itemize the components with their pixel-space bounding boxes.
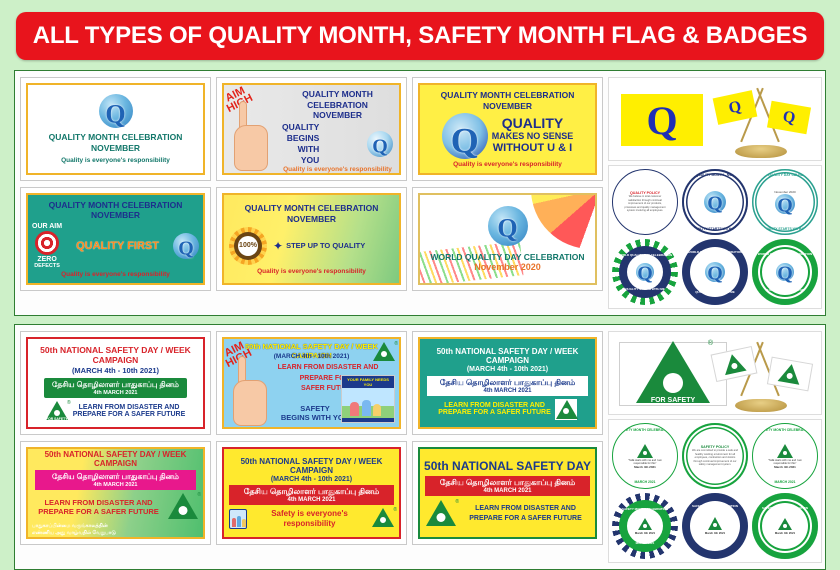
quality-card-5-title: QUALITY MONTH CELEBRATION (245, 203, 379, 214)
quality-badge-month[interactable]: QUALITY MONTH - NOV QUALITY STARTS WITH … (682, 169, 748, 235)
safety-triangle-icon (637, 444, 653, 459)
quality-card-3-title: QUALITY MONTH CELEBRATION (441, 90, 575, 101)
safety-card-1-line1: LEARN FROM DISASTER AND (73, 404, 186, 411)
quality-line-2: MAKES NO SENSE (492, 131, 574, 142)
safety-badge-green[interactable]: SAFETY MONTH CELEBRATION March 4th 2021 … (752, 493, 818, 559)
family-caption: YOUR FAMILY NEEDS YOU (342, 376, 394, 388)
safety-card-1-title: 50th NATIONAL SAFETY DAY / WEEK CAMPAIGN (28, 345, 203, 365)
safety-card-4-line1: LEARN FROM DISASTER AND (33, 498, 164, 507)
badge-bottom-text: MARCH 2021 (682, 544, 748, 548)
badge-top-text: WORLD QUALITY DAY CELEBRATION (612, 253, 678, 257)
safety-triangle-icon (778, 518, 792, 531)
safety-card-3-dates: (MARCH 4th - 10th 2021) (467, 366, 548, 373)
family-photo: YOUR FAMILY NEEDS YOU (341, 375, 395, 423)
safety-card-1-march: 4th MARCH 2021 (52, 390, 179, 396)
safety-card-5-tamil: தேசிய தொழிலாளர் பாதுகாப்பு தினம் (237, 487, 386, 497)
safety-badge-3[interactable]: SAFETY MONTH CELEBRATION "SHE starts wit… (752, 423, 818, 489)
quality-card-3-tagline: Quality is everyone's responsibility (453, 161, 562, 168)
safety-triangle-icon: ®FOR SAFETY (46, 401, 68, 422)
badge-top-text: QUALITY MONTH - NOV (682, 173, 748, 177)
badge-top-text: SAFETY MONTH CELEBRATION (613, 428, 677, 432)
safety-card-1-line2: PREPARE FOR A SAFER FUTURE (73, 411, 186, 418)
quality-badge-gear[interactable]: WORLD QUALITY DAY CELEBRATION QUALITY ST… (612, 239, 678, 305)
safety-triangle-icon (721, 351, 747, 376)
quality-badge-worldday[interactable]: WORLD QUALITY DAY CELEBRATION November 2… (752, 169, 818, 235)
badge-bottom-text: QUALITY STARTS WITH ME (612, 287, 678, 291)
quality-card-4[interactable]: QUALITY MONTH CELEBRATION NOVEMBER OUR A… (20, 187, 211, 291)
badge-bottom-text: MARCH 2021 (752, 542, 818, 546)
safety-triangle-icon (777, 444, 793, 459)
safety-badge-1[interactable]: SAFETY MONTH CELEBRATION "SHE starts wit… (612, 423, 678, 489)
quality-flag-panel[interactable]: Q Q Q (608, 77, 822, 161)
quality-card-6[interactable]: WORLD QUALITY DAY CELEBRATION November 2… (412, 187, 603, 291)
safety-card-5-slogan-2: responsibility (252, 519, 367, 529)
safety-badge-grid: SAFETY MONTH CELEBRATION "SHE starts wit… (608, 419, 822, 563)
safety-triangle-icon (777, 362, 802, 387)
safety-card-1-dates: (MARCH 4th - 10th 2021) (72, 366, 159, 375)
quality-card-5[interactable]: QUALITY MONTH CELEBRATION NOVEMBER 100% … (216, 187, 407, 291)
badge-policy-text: We believe in total customer satisfactio… (613, 195, 677, 213)
quality-card-5-tagline: Quality is everyone's responsibility (257, 268, 366, 275)
safety-card-1[interactable]: 50th NATIONAL SAFETY DAY / WEEK CAMPAIGN… (20, 331, 211, 435)
percent-label: 100% (238, 236, 258, 256)
safety-badge-gear[interactable]: SAFETY MONTH CELEBRATION March 4th 2021 … (612, 493, 678, 559)
quality-twin-flags: Q Q (709, 82, 813, 160)
quality-section: QUALITY MONTH CELEBRATION NOVEMBER Quali… (14, 70, 826, 316)
safety-card-3-line2: PREPARE FOR A SAFER FUTURE (438, 409, 551, 416)
safety-card-3-tamil: தேசிய தொழிலாளர் பாதுகாப்பு தினம் (435, 378, 580, 388)
quality-row-2: QUALITY MONTH CELEBRATION NOVEMBER OUR A… (20, 187, 603, 291)
badge-policy-text: We are committed to provide a safe and h… (682, 449, 748, 467)
safety-card-4[interactable]: 50th NATIONAL SAFETY DAY / WEEK CAMPAIGN… (20, 441, 211, 545)
page-title: ALL TYPES OF QUALITY MONTH, SAFETY MONTH… (16, 12, 824, 60)
safety-triangle-icon (638, 518, 652, 531)
badge-top-text: SAFETY MONTH CELEBRATION (753, 428, 817, 432)
quality-card-6-subtitle: November 2020 (474, 262, 541, 272)
quality-card-3-subtitle: NOVEMBER (483, 101, 532, 112)
safety-card-3[interactable]: 50th NATIONAL SAFETY DAY / WEEK CAMPAIGN… (412, 331, 603, 435)
quality-globe-icon (636, 263, 654, 281)
hundred-percent-seal-icon: 100% (229, 227, 267, 265)
safety-card-1-tamil: தேசிய தொழிலாளர் பாதுகாப்பு தினம் (52, 380, 179, 390)
safety-card-5-dates: (MARCH 4th - 10th 2021) (271, 476, 352, 483)
safety-section: 50th NATIONAL SAFETY DAY / WEEK CAMPAIGN… (14, 324, 826, 570)
quality-table-flag: Q (621, 94, 703, 146)
zero-label: ZERO (32, 256, 62, 263)
badge-bottom-text: QUALITY STARTS WITH ME (682, 227, 748, 231)
quality-q-globe-icon (442, 113, 488, 159)
quality-first-slogan: QUALITY FIRST (67, 240, 168, 252)
badge-bottom-text: QUALITY STARTS WITH ME (752, 288, 818, 292)
quality-badge-green[interactable]: WORLD QUALITY DAY CELEBRATION QUALITY ST… (752, 239, 818, 305)
safety-card-6-line2: PREPARE FOR A SAFER FUTURE (462, 514, 589, 524)
quality-card-2-tagline: Quality is everyone's responsibility (283, 166, 392, 173)
safety-card-4-tamil: தேசிய தொழிலாளர் பாதுகாப்பு தினம் (43, 472, 188, 482)
badge-mid-text: March 4th 2021 (705, 531, 725, 535)
quality-globe-icon (367, 131, 393, 157)
safety-card-6[interactable]: 50th NATIONAL SAFETY DAY தேசிய தொழிலாளர்… (412, 441, 603, 545)
safety-triangle-icon (708, 517, 723, 531)
quality-card-4-tagline: Quality is everyone's responsibility (61, 271, 170, 278)
safety-card-6-tamil: தேசிய தொழிலாளர் பாதுகாப்பு தினம் (433, 478, 582, 488)
safety-card-4-march: 4th MARCH 2021 (43, 482, 188, 488)
safety-card-4-title: 50th NATIONAL SAFETY DAY / WEEK CAMPAIGN (28, 450, 203, 468)
badge-top-text: SAFETY MONTH CELEBRATION (682, 504, 748, 508)
quality-badge-grid: QUALITY POLICY We believe in total custo… (608, 165, 822, 309)
safety-row-1: 50th NATIONAL SAFETY DAY / WEEK CAMPAIGN… (20, 331, 603, 435)
quality-card-4-subtitle: NOVEMBER (91, 210, 140, 221)
safety-card-4-tamil-small-1: பாதுகாப்பின்மை வருங்காலத்தின் (32, 523, 203, 530)
badge-top-text: WORLD QUALITY DAY CELEBRATION (682, 250, 748, 254)
quality-card-5-subtitle: NOVEMBER (287, 214, 336, 225)
quality-card-1[interactable]: QUALITY MONTH CELEBRATION NOVEMBER Quali… (20, 77, 211, 181)
quality-globe-icon (173, 233, 199, 259)
safety-triangle-icon: ® (372, 508, 394, 529)
safety-card-5-title: 50th NATIONAL SAFETY DAY / WEEK CAMPAIGN (224, 457, 399, 475)
world-quality-globe-icon (488, 206, 528, 246)
our-aim-label: OUR AIM (32, 223, 62, 230)
quality-card-4-title: QUALITY MONTH CELEBRATION (49, 200, 183, 211)
badge-top-text: WORLD QUALITY DAY CELEBRATION (752, 252, 818, 256)
quality-begins-line-2: BEGINS (282, 133, 319, 144)
quality-globe-icon (775, 194, 795, 214)
safety-card-3-line1: LEARN FROM DISASTER AND (438, 402, 551, 409)
badge-bottom-text: MARCH 2021 (612, 541, 678, 545)
quality-line-3: WITHOUT U & I (492, 142, 574, 155)
for-safety-label: FOR SAFETY (651, 397, 695, 404)
safety-flag-panel[interactable]: ® FOR SAFETY (608, 331, 822, 415)
safety-card-4-line2: PREPARE FOR A SAFER FUTURE (33, 507, 164, 516)
safety-triangle-icon (555, 399, 577, 420)
badge-top-text: WORLD QUALITY DAY CELEBRATION (752, 173, 818, 177)
quality-card-1-title: QUALITY MONTH CELEBRATION (49, 132, 183, 143)
safety-card-5-slogan-1: Safety is everyone's (252, 509, 367, 519)
quality-big-word: QUALITY (492, 116, 574, 131)
quality-badge-policy[interactable]: QUALITY POLICY We believe in total custo… (612, 169, 678, 235)
safety-triangle-icon: ® (168, 493, 198, 521)
badge-bottom-text: MARCH 2021 (753, 480, 817, 484)
safety-triangle-icon: ® FOR SAFETY (636, 341, 710, 407)
for-safety-label: FOR SAFETY (46, 417, 67, 421)
safety-row-2: 50th NATIONAL SAFETY DAY / WEEK CAMPAIGN… (20, 441, 603, 545)
badge-top-text: SAFETY MONTH CELEBRATION (612, 507, 678, 511)
quality-globe-icon (776, 263, 794, 281)
family-icon (229, 509, 247, 529)
safety-card-2[interactable]: 50th NATIONAL SAFETY DAY / WEEK CAMPAIGN… (216, 331, 407, 435)
safety-badge-policy[interactable]: SAFETY POLICY We are committed to provid… (682, 423, 748, 489)
badge-mid-text: March 4th 2021 (635, 531, 655, 535)
quality-card-2[interactable]: AIMHIGH QUALITY MONTH CELEBRATION NOVEMB… (216, 77, 407, 181)
badge-bottom-text: QUALITY STARTS WITH ME (752, 227, 818, 231)
safety-card-2-line1: LEARN FROM DISASTER AND (272, 363, 384, 374)
quality-globe-icon (99, 94, 133, 128)
quality-card-3[interactable]: QUALITY MONTH CELEBRATION NOVEMBER QUALI… (412, 77, 603, 181)
safety-card-3-march: 4th MARCH 2021 (435, 388, 580, 394)
quality-badge-blue[interactable]: WORLD QUALITY DAY CELEBRATION QUALITY ST… (682, 239, 748, 305)
safety-card-3-title: 50th NATIONAL SAFETY DAY / WEEK CAMPAIGN (420, 347, 595, 365)
rainbow-swoosh-decor (531, 193, 597, 249)
quality-row-1: QUALITY MONTH CELEBRATION NOVEMBER Quali… (20, 77, 603, 181)
quality-card-2-title: QUALITY MONTH CELEBRATION (278, 89, 397, 110)
badge-mid-2: March 4th 2021 (634, 465, 656, 469)
safety-card-6-line1: LEARN FROM DISASTER AND (462, 504, 589, 514)
safety-twin-flags (709, 336, 813, 414)
safety-badge-blue[interactable]: SAFETY MONTH CELEBRATION March 4th 2021 … (682, 493, 748, 559)
safety-card-6-title: 50th NATIONAL SAFETY DAY (424, 459, 591, 473)
safety-card-5[interactable]: 50th NATIONAL SAFETY DAY / WEEK CAMPAIGN… (216, 441, 407, 545)
quality-begins-line-4: YOU (282, 155, 319, 166)
quality-begins-line-1: QUALITY (282, 122, 319, 133)
quality-globe-icon (705, 262, 725, 282)
safety-card-6-march: 4th MARCH 2021 (433, 488, 582, 494)
badge-bottom-text: MARCH 2021 (613, 480, 677, 484)
poster-page: ALL TYPES OF QUALITY MONTH, SAFETY MONTH… (0, 0, 840, 537)
badge-bottom-text: QUALITY STARTS WITH ME (682, 290, 748, 294)
safety-card-4-tamil-small-2: எண்ணிய அது வாழ்வதில் வேறுபாடு (32, 530, 203, 537)
aim-high-hand-icon: AIMHIGH (226, 85, 278, 171)
badge-mid-2: March 4th 2021 (774, 465, 796, 469)
badge-mid-text: March 4th 2021 (775, 531, 795, 535)
quality-card-6-title: WORLD QUALITY DAY CELEBRATION (430, 252, 584, 263)
star-person-icon: ✦ (273, 239, 283, 253)
safety-card-5-march: 4th MARCH 2021 (237, 497, 386, 503)
safety-flags-and-badges: ® FOR SAFETY SAFETY MONTH CELEB (608, 331, 822, 563)
quality-globe-icon (704, 191, 726, 213)
badge-top-text: SAFETY MONTH CELEBRATION (752, 506, 818, 510)
quality-card-1-tagline: Quality is everyone's responsibility (61, 157, 170, 164)
safety-triangle-icon: ® (373, 342, 395, 363)
quality-card-1-subtitle: NOVEMBER (91, 143, 140, 154)
step-up-label: STEP UP TO QUALITY (286, 241, 365, 250)
page-title-text: ALL TYPES OF QUALITY MONTH, SAFETY MONTH… (33, 22, 808, 50)
quality-begins-line-3: WITH (282, 144, 319, 155)
quality-card-2-subtitle: NOVEMBER (313, 110, 362, 121)
safety-triangle-icon: ® (426, 500, 456, 528)
defects-label: DEFECTS (32, 263, 62, 269)
quality-flags-and-badges: Q Q Q QUALITY POLICY We believe in tot (608, 77, 822, 309)
target-icon (35, 231, 59, 255)
